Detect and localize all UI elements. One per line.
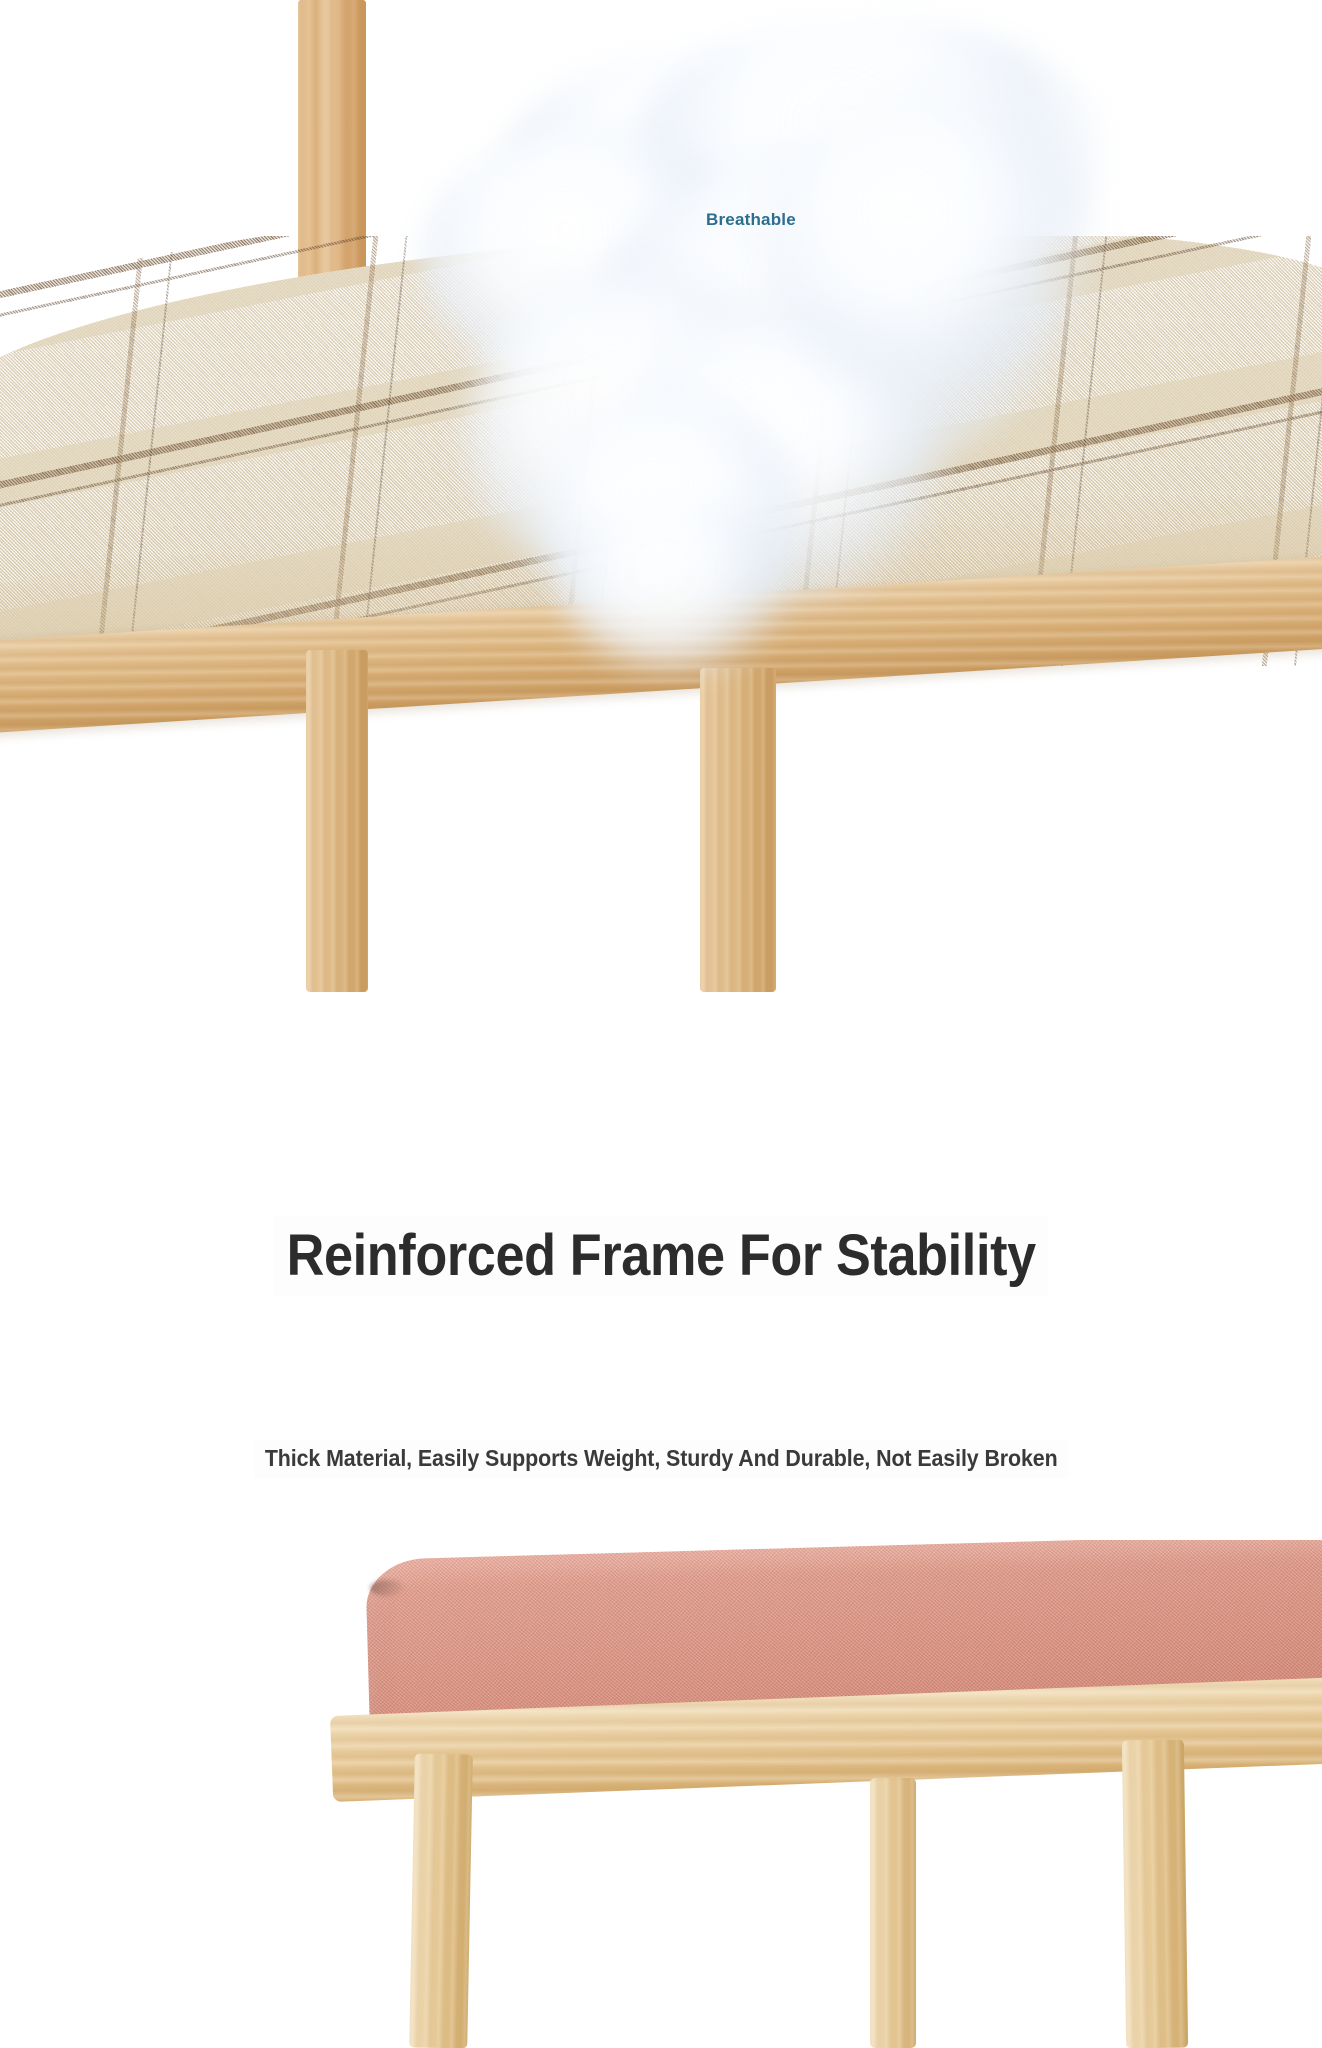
stool-leg-back bbox=[870, 1778, 916, 2048]
section-heading: Reinforced Frame For Stability bbox=[274, 1216, 1048, 1296]
stability-subheading-block: Thick Material, Easily Supports Weight, … bbox=[0, 1440, 1322, 1478]
breathable-label: Breathable bbox=[706, 210, 796, 230]
stool-leg-right bbox=[1122, 1740, 1188, 2048]
reinforced-frame-photo bbox=[0, 1540, 1322, 2048]
product-detail-page: Breathable Reinforced Frame For Stabilit… bbox=[0, 0, 1322, 2048]
section-subheading: Thick Material, Easily Supports Weight, … bbox=[253, 1440, 1068, 1478]
cushion-corner-shadow bbox=[370, 1580, 404, 1596]
breathable-feature-photo: Breathable bbox=[0, 0, 1322, 992]
stability-headline-block: Reinforced Frame For Stability bbox=[0, 1216, 1322, 1296]
chair-leg-front-right bbox=[700, 668, 776, 992]
stool-leg-left bbox=[409, 1753, 473, 2048]
chair-leg-front-left bbox=[306, 650, 368, 992]
